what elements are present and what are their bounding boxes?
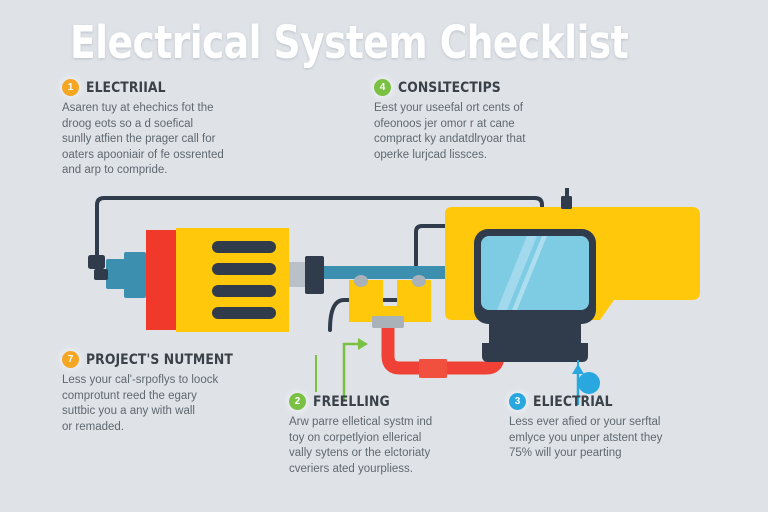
callout-4-body: Eest your useefal ort cents of ofeonoos … (374, 101, 624, 163)
callout-7-line-3: suttbic you a any with wall (62, 404, 302, 420)
callout-2-line-3: vally sytens or the elctoriaty (289, 446, 504, 462)
left-machine-vent-3 (212, 285, 276, 297)
right-unit-antenna-tip (565, 188, 569, 197)
signal-cable-plug-left (88, 255, 105, 269)
callout-3-body: Less ever afied or your serftal emlyce y… (509, 415, 729, 462)
callout-4-title: CONSLTECTIPS (398, 80, 501, 96)
callout-1-badge: 1 (62, 79, 79, 96)
right-unit-screen-glass (481, 236, 589, 310)
left-machine-flange-inner (106, 259, 126, 289)
callout-3-badge: 3 (509, 393, 526, 410)
callout-4: 4 CONSLTECTIPS Eest your useefal ort cen… (374, 79, 624, 163)
right-unit-antenna (561, 196, 572, 209)
callout-3-line-1: Less ever afied or your serftal (509, 415, 729, 431)
callout-1-header: 1 ELECTRIIAL (62, 79, 302, 96)
callout-7-body: Less your cal'-srpoflys to loock comprot… (62, 373, 302, 435)
callout-1-body: Asaren tuy at ehechics fot the droog eot… (62, 101, 302, 179)
callout-4-line-1: Eest your useefal ort cents of (374, 101, 624, 117)
green-arrow (344, 344, 364, 399)
callout-1-line-1: Asaren tuy at ehechics fot the (62, 101, 302, 117)
callout-7-title: PROJECT'S NUTMENT (86, 352, 233, 368)
callout-7-badge: 7 (62, 351, 79, 368)
left-machine-red-panel (146, 230, 176, 330)
left-machine-connector (305, 256, 324, 294)
clamp-collar (372, 316, 404, 328)
callout-2-badge: 2 (289, 393, 306, 410)
callout-3-title: ELIECTRIAL (533, 394, 613, 410)
callout-4-badge: 4 (374, 79, 391, 96)
callout-7-line-1: Less your cal'-srpoflys to loock (62, 373, 302, 389)
callout-1-title: ELECTRIIAL (86, 80, 166, 96)
callout-2-line-2: toy on corpetlyion ellerical (289, 431, 504, 447)
callout-2-title: FREELLING (313, 394, 390, 410)
green-arrow-head (358, 338, 368, 350)
clamp-bolt-left (354, 275, 368, 287)
callout-7-line-4: or remaded. (62, 420, 302, 436)
left-machine-vent-1 (212, 241, 276, 253)
callout-3: 3 ELIECTRIAL Less ever afied or your ser… (509, 393, 729, 462)
left-machine-end-cap (94, 269, 108, 280)
page-title: Electrical System Checklist (70, 17, 628, 69)
callout-3-line-2: emlyce you unper atstent they (509, 431, 729, 447)
callout-2-header: 2 FREELLING (289, 393, 504, 410)
callout-7: 7 PROJECT'S NUTMENT Less your cal'-srpof… (62, 351, 302, 435)
callout-4-line-3: compract ky andatdlryoar that (374, 132, 624, 148)
infographic-canvas: Electrical System Checklist 1 ELECTRIIAL… (0, 0, 768, 512)
blue-dot (578, 372, 600, 394)
callout-4-header: 4 CONSLTECTIPS (374, 79, 624, 96)
callout-1-line-2: droog eots so a d soefical (62, 117, 302, 133)
right-unit-base (482, 318, 588, 362)
callout-1-line-5: and arp to compride. (62, 163, 302, 179)
callout-2-line-4: cveriers ated yourpliess. (289, 462, 504, 478)
left-machine-coupler (289, 262, 305, 287)
callout-3-header: 3 ELIECTRIAL (509, 393, 729, 410)
callout-4-line-2: ofeonoos jer omor r at cane (374, 117, 624, 133)
callout-3-line-3: 75% will your pearting (509, 446, 729, 462)
left-machine-vent-4 (212, 307, 276, 319)
callout-1: 1 ELECTRIIAL Asaren tuy at ehechics fot … (62, 79, 302, 179)
left-machine-flange (124, 252, 146, 298)
callout-1-line-3: sunlly atfien the prager call for (62, 132, 302, 148)
callout-2-body: Arw parre elletical systm ind toy on cor… (289, 415, 504, 477)
callout-1-line-4: oaters apooniair of fe ossrented (62, 148, 302, 164)
callout-7-header: 7 PROJECT'S NUTMENT (62, 351, 302, 368)
callout-7-line-2: comprotunt reed the egary (62, 389, 302, 405)
left-machine-vent-2 (212, 263, 276, 275)
clamp-bolt-right (412, 275, 426, 287)
red-pipe-fitting (419, 359, 447, 378)
callout-2-line-1: Arw parre elletical systm ind (289, 415, 504, 431)
callout-4-line-4: operke lurjcad lissces. (374, 148, 624, 164)
callout-2: 2 FREELLING Arw parre elletical systm in… (289, 393, 504, 477)
